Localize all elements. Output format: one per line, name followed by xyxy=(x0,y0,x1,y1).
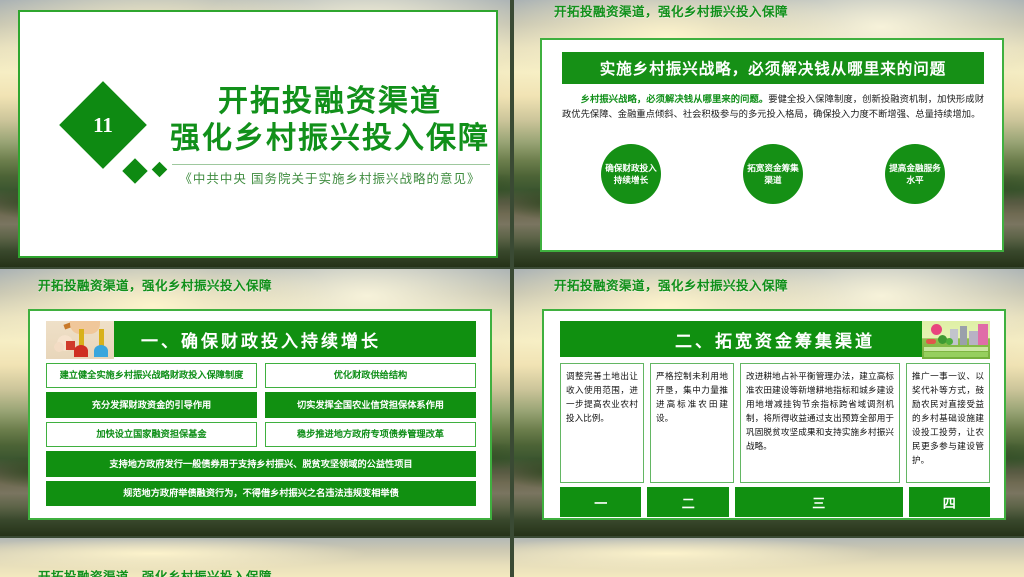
row-cell[interactable]: 建立健全实施乡村振兴战略财政投入保障制度 xyxy=(46,363,257,388)
slide-1-white-card: 11 开拓投融资渠道 强化乡村振兴投入保障 《中共中央 国务院关于实施乡村振兴战… xyxy=(18,10,498,258)
column-text-4[interactable]: 推广一事一议、以奖代补等方式，鼓励农民对直接受益的乡村基础设施建设投工投劳，让农… xyxy=(906,363,990,483)
slide-1-title[interactable]: 11 开拓投融资渠道 强化乡村振兴投入保障 《中共中央 国务院关于实施乡村振兴战… xyxy=(0,0,510,267)
row-cell[interactable]: 优化财政供给结构 xyxy=(265,363,476,388)
slide-4-content-frame: 二、拓宽资金筹集渠道 调整完善土地出让收入使用范围，进一步提高农业农村投入比例。… xyxy=(542,309,1006,520)
slide-5-running-caption: 开拓投融资渠道，强化乡村振兴投入保障 xyxy=(38,566,272,577)
slide-4-header-bar: 二、拓宽资金筹集渠道 xyxy=(560,321,990,357)
circle-item-3[interactable]: 提高金融服务水平 xyxy=(885,144,945,204)
slide-background-photo xyxy=(514,538,1024,577)
slide-2-header-bar: 实施乡村振兴战略，必须解决钱从哪里来的问题 xyxy=(562,52,984,84)
paragraph-highlight: 乡村振兴战略，必须解决钱从哪里来的问题。 xyxy=(581,94,769,104)
table-row: 规范地方政府举债融资行为，不得借乡村振兴之名违法违规变相举债 xyxy=(46,481,476,506)
slide-3-header-text: 一、确保财政投入持续增长 xyxy=(46,321,476,357)
slide-2-circle-row: 确保财政投入持续增长 拓宽资金筹集渠道 提高金融服务水平 xyxy=(560,144,986,218)
slide-1-subtitle: 《中共中央 国务院关于实施乡村振兴战略的意见》 xyxy=(170,168,490,187)
slide-2-overview[interactable]: 开拓投融资渠道，强化乡村振兴投入保障 实施乡村振兴战略，必须解决钱从哪里来的问题… xyxy=(514,0,1024,267)
decor-diamond-small-2 xyxy=(152,162,168,178)
circle-item-2[interactable]: 拓宽资金筹集渠道 xyxy=(743,144,803,204)
title-line-2: 强化乡村振兴投入保障 xyxy=(170,121,490,158)
table-row: 建立健全实施乡村振兴战略财政投入保障制度 优化财政供给结构 xyxy=(46,363,476,388)
row-cell[interactable]: 加快设立国家融资担保基金 xyxy=(46,422,257,447)
slide-3-header-bar: 一、确保财政投入持续增长 xyxy=(46,321,476,357)
slide-3-row-list: 建立健全实施乡村振兴战略财政投入保障制度 优化财政供给结构 充分发挥财政资金的引… xyxy=(46,363,476,506)
slide-3-running-caption: 开拓投融资渠道，强化乡村振兴投入保障 xyxy=(38,275,272,294)
number-button-4[interactable]: 四 xyxy=(909,487,990,517)
village-illustration-icon xyxy=(922,321,990,359)
slide-5-partial[interactable]: 开拓投融资渠道，强化乡村振兴投入保障 xyxy=(0,538,510,577)
row-cell[interactable]: 稳步推进地方政府专项债券管理改革 xyxy=(265,422,476,447)
row-cell[interactable]: 支持地方政府发行一般债券用于支持乡村振兴、脱贫攻坚领域的公益性项目 xyxy=(46,451,476,476)
number-button-1[interactable]: 一 xyxy=(560,487,641,517)
circle-item-1[interactable]: 确保财政投入持续增长 xyxy=(601,144,661,204)
row-cell[interactable]: 切实发挥全国农业信贷担保体系作用 xyxy=(265,392,476,417)
slide-6-partial[interactable] xyxy=(514,538,1024,577)
slide-number-diamond: 11 xyxy=(59,81,147,169)
slide-3-content-frame: 一、确保财政投入持续增长 建立健全实施乡村振兴战略财政投入保障制度 优化财政供给… xyxy=(28,309,492,520)
decor-diamond-small-1 xyxy=(122,158,147,183)
column-text-1[interactable]: 调整完善土地出让收入使用范围，进一步提高农业农村投入比例。 xyxy=(560,363,644,483)
slide-2-content-frame: 实施乡村振兴战略，必须解决钱从哪里来的问题 乡村振兴战略，必须解决钱从哪里来的问… xyxy=(540,38,1004,252)
number-button-3[interactable]: 三 xyxy=(735,487,903,517)
slide-1-title-block: 开拓投融资渠道 强化乡村振兴投入保障 xyxy=(170,84,490,157)
table-row: 充分发挥财政资金的引导作用 切实发挥全国农业信贷担保体系作用 xyxy=(46,392,476,417)
column-text-2[interactable]: 严格控制未利用地开垦，集中力量推进高标准农田建设。 xyxy=(650,363,734,483)
slide-2-header-text: 实施乡村振兴战略，必须解决钱从哪里来的问题 xyxy=(600,57,947,79)
slide-2-running-caption: 开拓投融资渠道，强化乡村振兴投入保障 xyxy=(554,1,788,20)
column-text-3[interactable]: 改进耕地占补平衡管理办法，建立高标准农田建设等新增耕地指标和城乡建设用地增减挂钩… xyxy=(740,363,900,483)
slide-4-funding-channels[interactable]: 开拓投融资渠道，强化乡村振兴投入保障 二、拓宽资金筹集渠道 调整完善土地出让收入… xyxy=(514,269,1024,536)
row-cell[interactable]: 规范地方政府举债融资行为，不得借乡村振兴之名违法违规变相举债 xyxy=(46,481,476,506)
row-cell[interactable]: 充分发挥财政资金的引导作用 xyxy=(46,392,257,417)
table-row: 加快设立国家融资担保基金 稳步推进地方政府专项债券管理改革 xyxy=(46,422,476,447)
slide-4-column-list: 调整完善土地出让收入使用范围，进一步提高农业农村投入比例。 严格控制未利用地开垦… xyxy=(560,363,990,483)
slide-thumbnail-grid: 11 开拓投融资渠道 强化乡村振兴投入保障 《中共中央 国务院关于实施乡村振兴战… xyxy=(0,0,1024,577)
number-button-2[interactable]: 二 xyxy=(647,487,728,517)
table-row: 支持地方政府发行一般债券用于支持乡村振兴、脱贫攻坚领域的公益性项目 xyxy=(46,451,476,476)
title-line-1: 开拓投融资渠道 xyxy=(170,84,490,121)
slide-number: 11 xyxy=(72,94,134,156)
slide-4-running-caption: 开拓投融资渠道，强化乡村振兴投入保障 xyxy=(554,275,788,294)
slide-3-fiscal-input[interactable]: 开拓投融资渠道，强化乡村振兴投入保障 一、确保财政投入持续增长 建立健全实施乡村… xyxy=(0,269,510,536)
title-divider xyxy=(172,164,490,165)
slide-4-number-buttons: 一 二 三 四 xyxy=(560,487,990,517)
slide-2-paragraph: 乡村振兴战略，必须解决钱从哪里来的问题。要健全投入保障制度，创新投融资机制，加快… xyxy=(562,92,984,123)
